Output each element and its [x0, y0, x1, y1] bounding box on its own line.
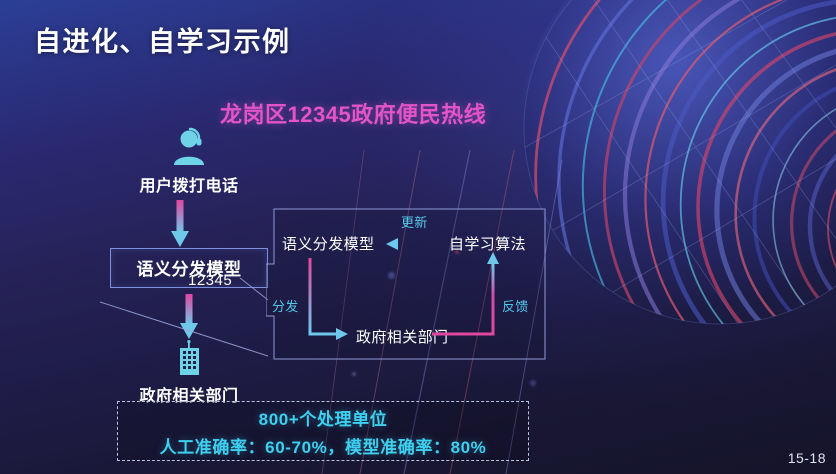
- sphere-graphic: [520, 0, 836, 328]
- flow-arrow-model-to-dept: [179, 294, 199, 340]
- panel-node-department: 政府相关部门: [356, 326, 448, 347]
- hotline-number-label: 12345: [188, 272, 232, 289]
- panel-node-model: 语义分发模型: [282, 233, 374, 254]
- flow-arrow-user-to-model: [170, 200, 190, 248]
- sphere-core: [520, 0, 836, 328]
- flow-label-user: 用户拨打电话: [104, 172, 274, 196]
- statistics-box: 800+个处理单位 人工准确率：60-70%，模型准确率：80%: [117, 401, 529, 461]
- process-flow-column: 用户拨打电话 12345 语义分发模型: [104, 126, 274, 406]
- sphere-streaks-svg: [520, 0, 836, 328]
- particle-dot: [530, 380, 536, 386]
- panel-edge-feedback: 反馈: [502, 296, 529, 315]
- self-learning-loop-panel: 语义分发模型 自学习算法 政府相关部门: [266, 208, 546, 360]
- headset-user-icon: [167, 126, 211, 166]
- page-title: 自进化、自学习示例: [34, 20, 291, 59]
- stats-line-units: 800+个处理单位: [259, 405, 388, 430]
- slide-canvas: 自进化、自学习示例 龙岗区12345政府便民热线 用户拨打电话: [0, 0, 836, 474]
- panel-edge-update: 更新: [401, 212, 428, 231]
- panel-edge-dispatch: 分发: [272, 296, 299, 315]
- stats-line-accuracy: 人工准确率：60-70%，模型准确率：80%: [160, 433, 487, 458]
- page-number: 15-18: [788, 450, 826, 466]
- panel-node-algorithm: 自学习算法: [449, 233, 526, 254]
- particle-dot: [352, 372, 356, 376]
- page-subtitle: 龙岗区12345政府便民热线: [220, 97, 486, 129]
- government-building-icon: [172, 340, 206, 376]
